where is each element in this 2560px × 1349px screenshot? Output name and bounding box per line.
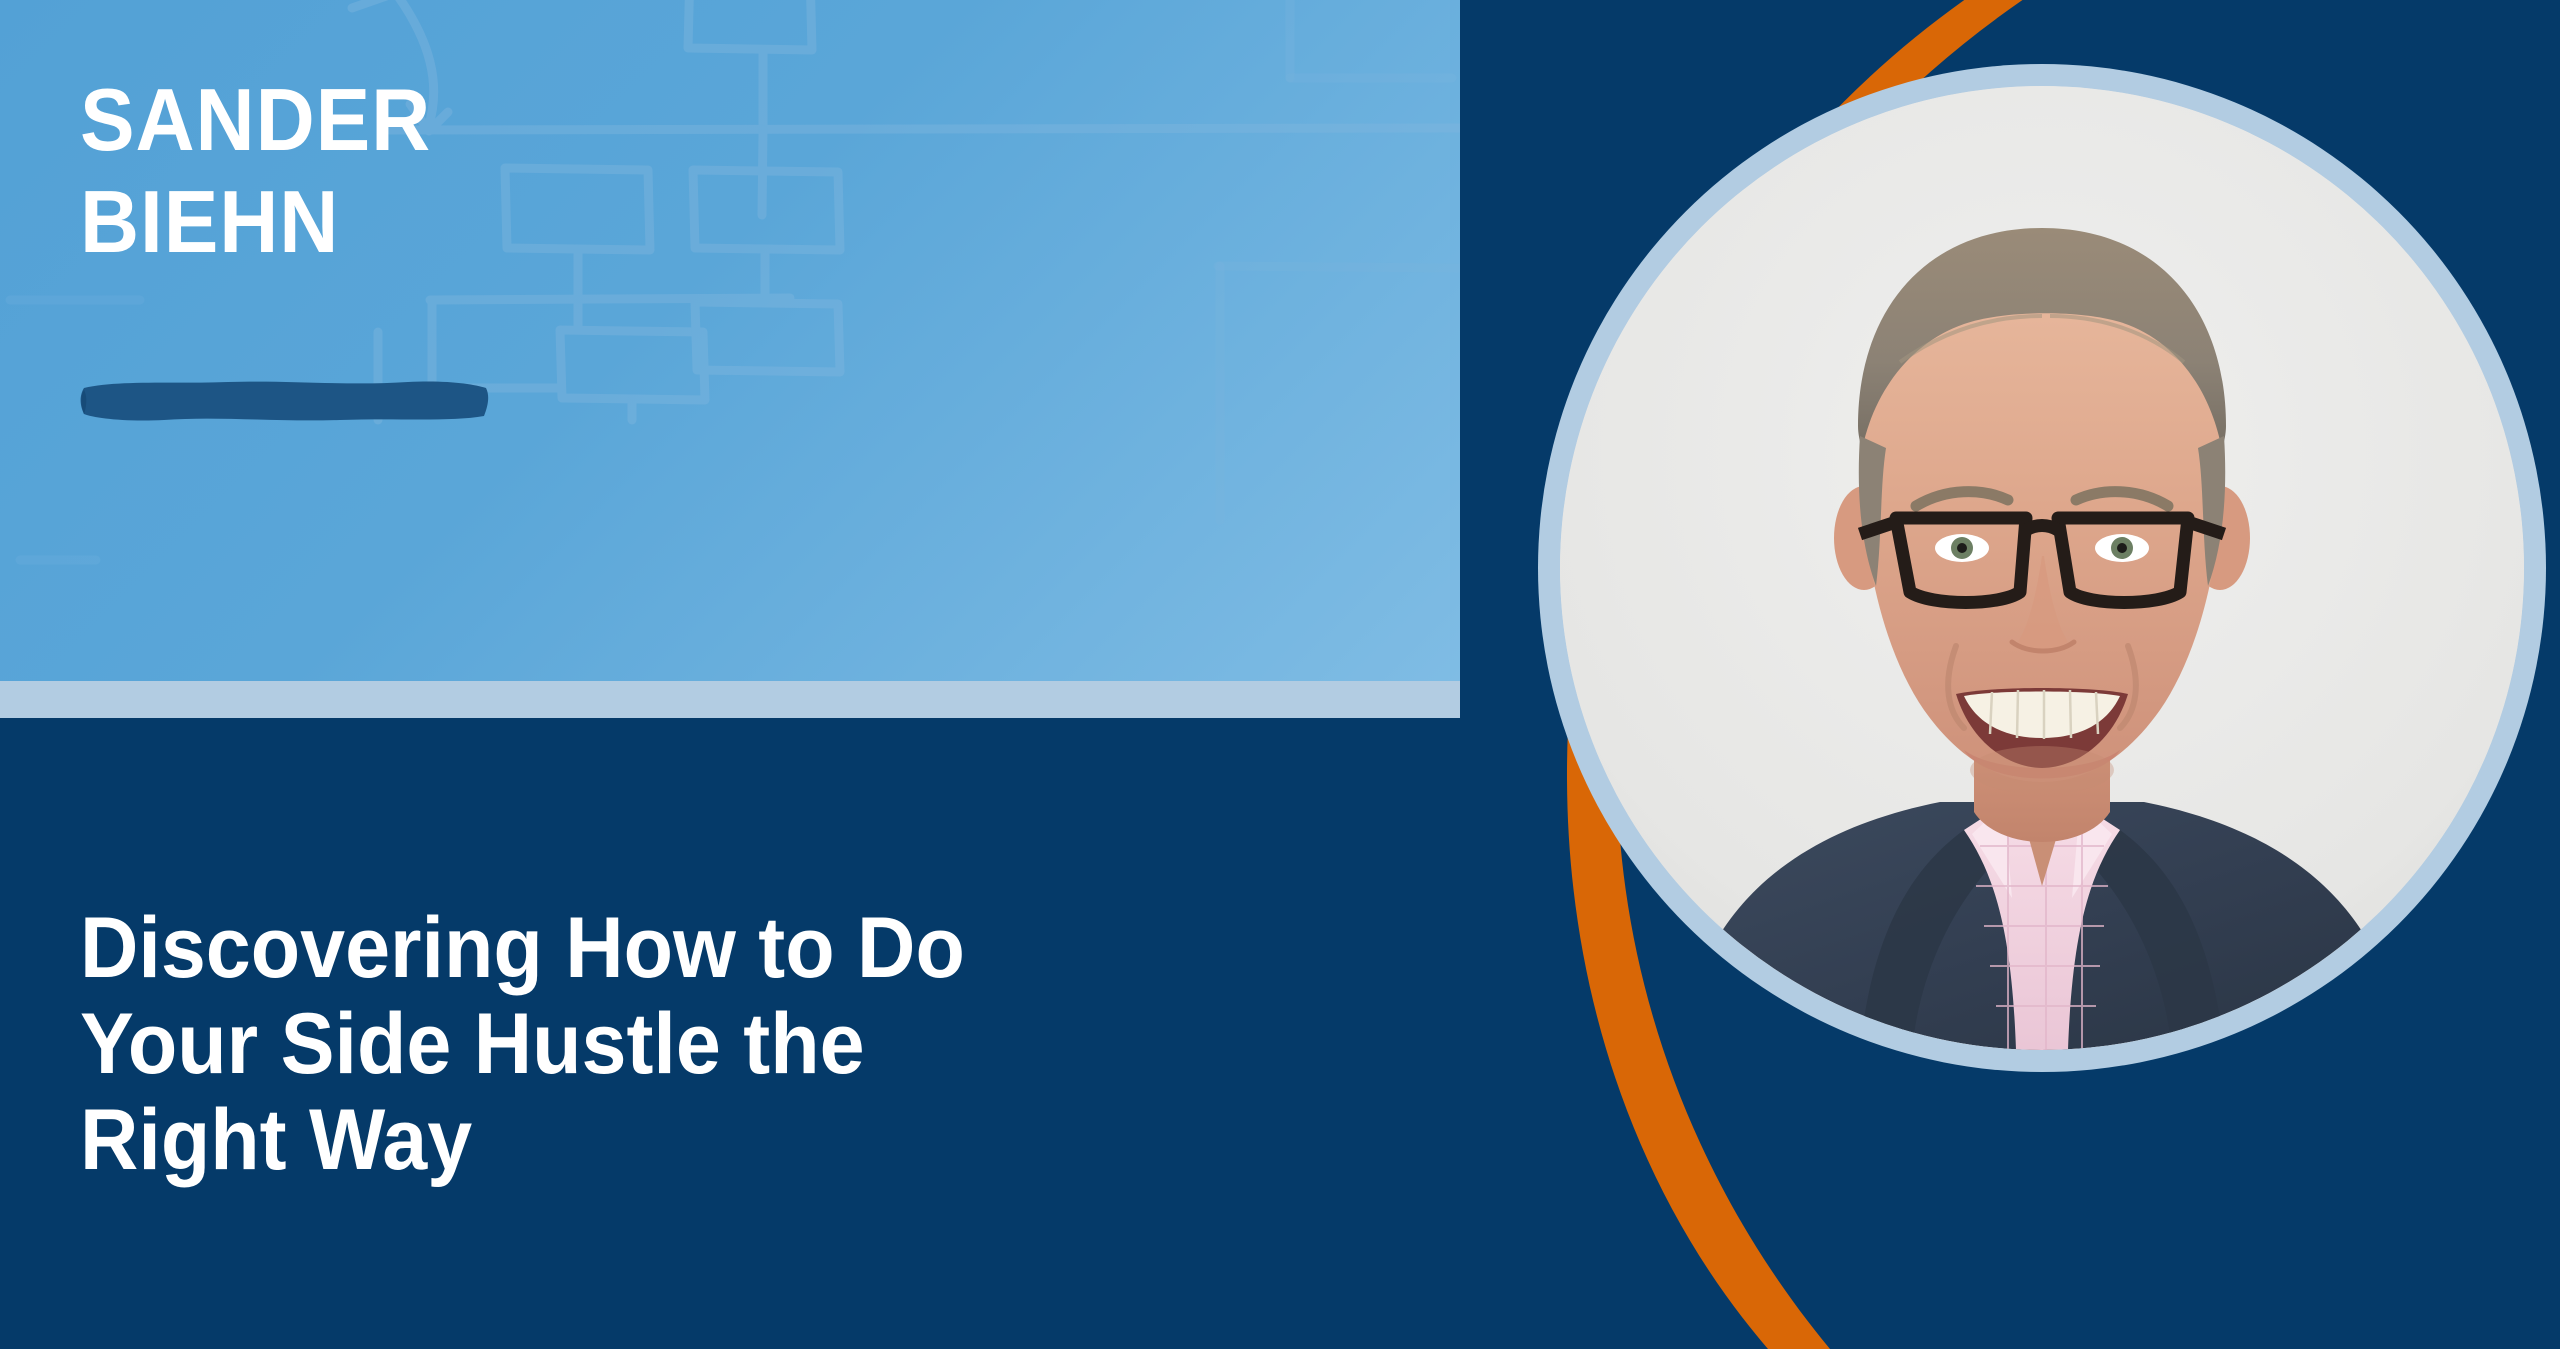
podcast-guest-banner: Headshot of a smiling man with short gre… bbox=[0, 0, 2560, 1349]
episode-title-line-2: Your Side Hustle the bbox=[80, 996, 1246, 1092]
guest-name: SANDER BIEHN bbox=[80, 76, 980, 266]
guest-last-name: BIEHN bbox=[80, 178, 917, 266]
episode-title: Discovering How to Do Your Side Hustle t… bbox=[80, 900, 1320, 1188]
guest-photo-ring: Headshot of a smiling man with short gre… bbox=[1538, 64, 2546, 1072]
brush-stroke-underline bbox=[78, 372, 490, 424]
guest-photo: Headshot of a smiling man with short gre… bbox=[1560, 86, 2524, 1050]
guest-first-name: SANDER bbox=[80, 76, 917, 164]
episode-title-line-1: Discovering How to Do bbox=[80, 900, 1246, 996]
episode-title-line-3: Right Way bbox=[80, 1092, 1246, 1188]
divider-band bbox=[0, 681, 1460, 718]
